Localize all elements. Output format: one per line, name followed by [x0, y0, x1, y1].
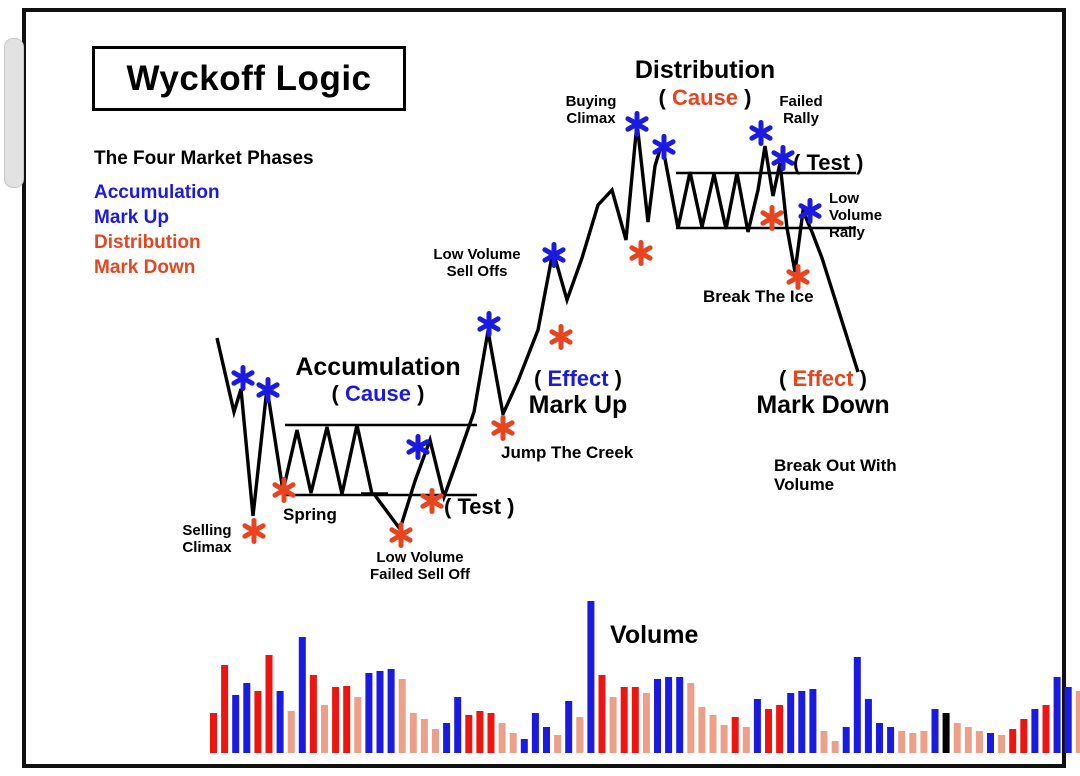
- volume-bar: [920, 731, 927, 753]
- volume-bar: [266, 655, 273, 753]
- volume-bar: [532, 713, 539, 753]
- volume-bar: [665, 677, 672, 753]
- volume-bar: [909, 733, 916, 753]
- marker-test-distribution: [774, 148, 792, 169]
- volume-bar: [288, 711, 295, 753]
- volume-bar: [1054, 677, 1061, 753]
- distribution-subtitle: ( Cause ): [620, 85, 790, 110]
- marker-selling-climax: [245, 521, 263, 542]
- volume-bar: [632, 687, 639, 753]
- volume-bar: [554, 735, 561, 753]
- volume-bar: [721, 725, 728, 753]
- marker-low-volume-failed-sell-off: [392, 525, 410, 546]
- markup-subtitle: ( Effect ): [518, 366, 638, 391]
- marker-distribution-support: [763, 208, 781, 229]
- annotation-test-distribution: ( Test ): [793, 150, 863, 175]
- volume-bar: [1043, 705, 1050, 753]
- marker-buying-climax: [628, 114, 646, 135]
- volume-bar: [277, 691, 284, 753]
- volume-bar: [698, 707, 705, 753]
- paren-close: ): [738, 85, 751, 110]
- volume-bar: [954, 723, 961, 753]
- paren-close: ): [609, 366, 622, 391]
- marker-failed-rally: [752, 123, 770, 144]
- paren-close: ): [854, 366, 867, 391]
- volume-bar: [332, 687, 339, 753]
- volume-bar: [343, 686, 350, 753]
- volume-bar: [1020, 719, 1027, 753]
- volume-bar: [587, 601, 594, 753]
- volume-bar: [643, 693, 650, 753]
- paren-open: (: [779, 366, 792, 391]
- volume-bar: [310, 675, 317, 753]
- marker-spring: [275, 480, 293, 501]
- volume-bar: [732, 717, 739, 753]
- screenshot-page: Wyckoff Logic The Four Market Phases Acc…: [0, 0, 1080, 776]
- annotation-low-volume-sell-offs: Low VolumeSell Offs: [422, 246, 532, 280]
- marker-jump-the-creek: [494, 418, 512, 439]
- volume-bar: [610, 697, 617, 753]
- volume-bar: [221, 665, 228, 753]
- marker-distribution-low: [632, 243, 650, 264]
- volume-bar: [776, 705, 783, 753]
- price-line: [217, 123, 858, 529]
- volume-bar: [354, 697, 361, 753]
- paren-open: (: [534, 366, 547, 391]
- volume-bar: [321, 705, 328, 753]
- volume-bar: [932, 709, 939, 753]
- volume-bar: [898, 731, 905, 753]
- annotation-spring: Spring: [283, 505, 337, 524]
- volume-bar: [432, 729, 439, 753]
- volume-bar: [421, 719, 428, 753]
- volume-bar: [476, 711, 483, 753]
- markdown-subtitle: ( Effect ): [748, 366, 898, 391]
- marker-break-the-ice: [789, 267, 807, 288]
- volume-bar: [232, 695, 239, 753]
- volume-bar: [599, 675, 606, 753]
- volume-bar: [443, 723, 450, 753]
- volume-bar: [1065, 687, 1072, 753]
- volume-bar: [299, 637, 306, 753]
- annotation-jump-the-creek: Jump The Creek: [501, 443, 633, 462]
- annotation-low-volume-failed-sell-off: Low VolumeFailed Sell Off: [356, 549, 484, 583]
- phase-markers: [234, 114, 819, 546]
- volume-bar: [687, 683, 694, 753]
- annotation-test-accumulation: ( Test ): [444, 494, 514, 519]
- volume-bar: [565, 701, 572, 753]
- volume-bar: [521, 739, 528, 753]
- volume-bar: [876, 723, 883, 753]
- volume-bar: [365, 673, 372, 753]
- volume-bar: [787, 693, 794, 753]
- volume-bar: [1009, 729, 1016, 753]
- volume-bar: [243, 683, 250, 753]
- volume-bar: [887, 727, 894, 753]
- paren-open: (: [659, 85, 672, 110]
- volume-bar: [488, 713, 495, 753]
- marker-low-volume-sell-offs-high: [545, 245, 563, 266]
- volume-bar: [976, 731, 983, 753]
- volume-bar: [754, 699, 761, 753]
- volume-bar: [987, 733, 994, 753]
- accumulation-subtitle: ( Cause ): [293, 381, 463, 406]
- volume-title: Volume: [610, 621, 698, 650]
- markdown-title: Mark Down: [740, 391, 906, 420]
- marker-secondary-test-1: [234, 368, 252, 389]
- paren-open: (: [332, 381, 345, 406]
- marker-test-accumulation: [423, 491, 441, 512]
- volume-bar: [510, 733, 517, 753]
- paren-close: ): [411, 381, 424, 406]
- volume-bar: [454, 697, 461, 753]
- annotation-break-out-with-volume: Break Out WithVolume: [774, 456, 897, 495]
- accumulation-title: Accumulation: [293, 353, 463, 382]
- volume-bar: [465, 715, 472, 753]
- annotation-selling-climax: SellingClimax: [174, 522, 240, 556]
- volume-bar: [543, 727, 550, 753]
- volume-bar: [865, 699, 872, 753]
- volume-bar: [765, 709, 772, 753]
- volume-bar: [998, 735, 1005, 753]
- annotation-low-volume-rally: LowVolumeRally: [829, 190, 882, 241]
- volume-bar: [410, 713, 417, 753]
- volume-bar: [710, 715, 717, 753]
- volume-bar: [1031, 709, 1038, 753]
- marker-secondary-test-2: [259, 380, 277, 401]
- volume-bar: [943, 713, 950, 753]
- volume-bar: [621, 687, 628, 753]
- distribution-title: Distribution: [620, 56, 790, 85]
- volume-bar: [254, 691, 261, 753]
- volume-bar: [499, 723, 506, 753]
- annotation-buying-climax: BuyingClimax: [559, 93, 623, 127]
- volume-bar: [854, 657, 861, 753]
- volume-bar: [743, 727, 750, 753]
- volume-bar: [798, 691, 805, 753]
- volume-bar: [809, 689, 816, 753]
- volume-bar: [676, 677, 683, 753]
- cause-word: Cause: [672, 85, 738, 110]
- volume-bar: [843, 727, 850, 753]
- markup-title: Mark Up: [518, 391, 638, 420]
- volume-bar: [654, 679, 661, 753]
- annotation-failed-rally: FailedRally: [773, 93, 829, 127]
- cause-word: Cause: [345, 381, 411, 406]
- volume-bar: [399, 679, 406, 753]
- effect-word: Effect: [547, 366, 608, 391]
- volume-bar: [377, 671, 384, 753]
- marker-low-volume-sell-off: [552, 327, 570, 348]
- volume-bar: [965, 727, 972, 753]
- effect-word: Effect: [792, 366, 853, 391]
- marker-creek-jump-high: [480, 314, 498, 335]
- annotation-break-the-ice: Break The Ice: [703, 287, 814, 306]
- volume-bar: [576, 717, 583, 753]
- volume-bar: [821, 731, 828, 753]
- volume-bar: [388, 669, 395, 753]
- volume-bar: [210, 713, 217, 753]
- volume-bar: [832, 741, 839, 753]
- volume-bar: [1076, 691, 1080, 753]
